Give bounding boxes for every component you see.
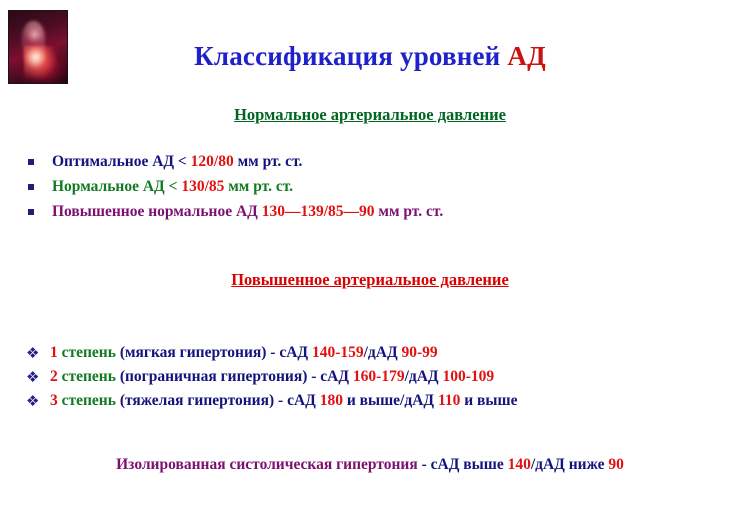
isolated-systolic-line: Изолированная систолическая гипертония -… bbox=[0, 457, 740, 473]
systolic-value: 140-159 bbox=[312, 344, 364, 361]
systolic-value: 160-179 bbox=[353, 368, 405, 385]
list-item-value: 120/80 bbox=[191, 153, 234, 170]
degree-qualifier: (пограничная гипертония) - сАД bbox=[120, 368, 349, 385]
diastolic-value: 90-99 bbox=[402, 344, 438, 361]
list-item-value: 130/85 bbox=[181, 178, 224, 195]
list-item-label: Нормальное АД < bbox=[52, 178, 177, 195]
degree-word: степень bbox=[62, 392, 116, 409]
diamond-bullet-icon: ❖ bbox=[26, 389, 39, 413]
square-bullet-icon bbox=[28, 159, 34, 165]
diamond-bullet-icon: ❖ bbox=[26, 341, 39, 365]
list-item: ❖ 2 степень (пограничная гипертония) - с… bbox=[26, 365, 726, 389]
systolic-value: 180 bbox=[320, 392, 343, 409]
value-separator: /дАД bbox=[364, 344, 398, 361]
isolated-diastolic-value: 90 bbox=[608, 456, 624, 473]
list-item: Нормальное АД < 130/85 мм рт. ст. bbox=[26, 174, 726, 199]
list-item: Оптимальное АД < 120/80 мм рт. ст. bbox=[26, 149, 726, 174]
isolated-separator: /дАД ниже bbox=[531, 456, 605, 473]
list-item: Повышенное нормальное АД 130—139/85—90 м… bbox=[26, 199, 726, 224]
section-heading-elevated: Повышенное артериальное давление bbox=[0, 272, 740, 289]
square-bullet-icon bbox=[28, 184, 34, 190]
degree-qualifier: (мягкая гипертония) - сАД bbox=[120, 344, 308, 361]
isolated-systolic-mid: - сАД выше bbox=[422, 456, 504, 473]
list-item-unit: мм рт. ст. bbox=[238, 153, 303, 170]
list-item-unit: мм рт. ст. bbox=[228, 178, 293, 195]
degree-number: 2 bbox=[50, 368, 58, 385]
elevated-bp-list: ❖ 1 степень (мягкая гипертония) - сАД 14… bbox=[26, 341, 726, 413]
degree-word: степень bbox=[62, 368, 116, 385]
list-item-unit: мм рт. ст. bbox=[378, 203, 443, 220]
slide-root: { "slide": { "title_main": "Классификаци… bbox=[0, 0, 740, 511]
value-suffix: и выше bbox=[464, 392, 517, 409]
section-heading-normal: Нормальное артериальное давление bbox=[0, 107, 740, 124]
list-item-value: 130—139/85—90 bbox=[262, 203, 375, 220]
value-separator: /дАД bbox=[405, 368, 439, 385]
list-item-label: Оптимальное АД < bbox=[52, 153, 187, 170]
diamond-bullet-icon: ❖ bbox=[26, 365, 39, 389]
degree-word: степень bbox=[62, 344, 116, 361]
page-title: Классификация уровней АД bbox=[0, 43, 740, 70]
list-item: ❖ 3 степень (тяжелая гипертония) - сАД 1… bbox=[26, 389, 726, 413]
list-item-label: Повышенное нормальное АД bbox=[52, 203, 258, 220]
isolated-systolic-name: Изолированная систолическая гипертония bbox=[116, 456, 418, 473]
degree-number: 3 bbox=[50, 392, 58, 409]
degree-qualifier: (тяжелая гипертония) - сАД bbox=[120, 392, 316, 409]
diastolic-value: 100-109 bbox=[442, 368, 494, 385]
normal-bp-list: Оптимальное АД < 120/80 мм рт. ст. Норма… bbox=[26, 149, 726, 224]
isolated-systolic-value: 140 bbox=[508, 456, 531, 473]
page-title-main: Классификация уровней bbox=[194, 41, 500, 71]
square-bullet-icon bbox=[28, 209, 34, 215]
value-separator: и выше/дАД bbox=[347, 392, 434, 409]
page-title-accent: АД bbox=[507, 41, 545, 71]
degree-number: 1 bbox=[50, 344, 58, 361]
diastolic-value: 110 bbox=[438, 392, 460, 409]
list-item: ❖ 1 степень (мягкая гипертония) - сАД 14… bbox=[26, 341, 726, 365]
